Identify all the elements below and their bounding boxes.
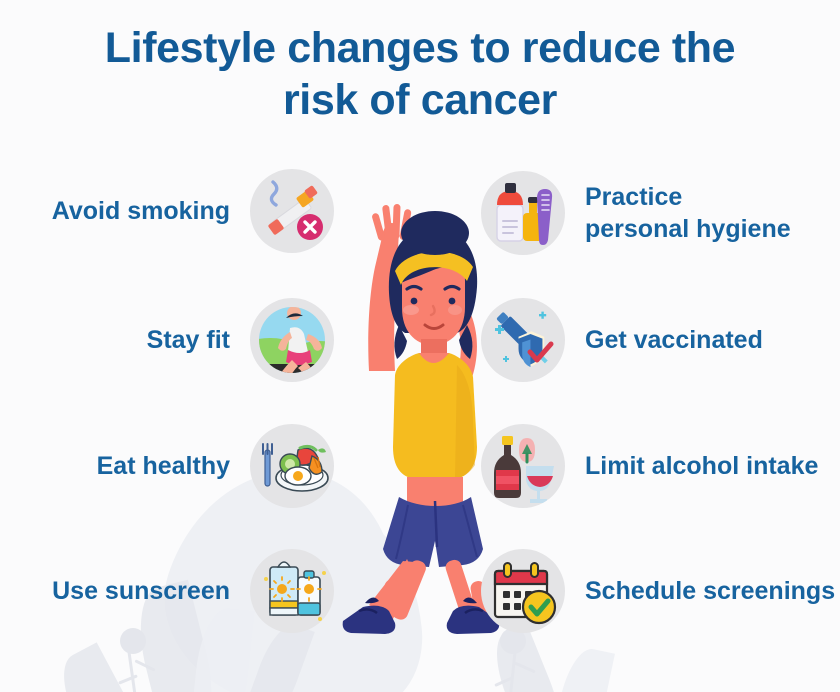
infographic-poster: Lifestyle changes to reduce the risk of …	[0, 0, 840, 692]
title-line-2: risk of cancer	[0, 74, 840, 126]
leaf-shape	[49, 642, 153, 692]
stem-shape	[494, 676, 513, 687]
item-label: Avoid smoking	[52, 195, 230, 227]
syringe-shield-icon	[481, 298, 565, 382]
healthy-plate-icon	[250, 424, 334, 508]
no-smoking-icon	[250, 169, 334, 253]
stem-shape	[134, 659, 155, 671]
item-label: Eat healthy	[97, 450, 230, 482]
stem-shape	[118, 674, 138, 684]
wine-bottle-glass-icon	[481, 424, 565, 508]
stem-shape	[127, 650, 137, 692]
stem-shape	[508, 650, 516, 692]
title-line-1: Lifestyle changes to reduce the	[105, 24, 735, 72]
hygiene-products-icon	[481, 171, 565, 255]
list-item-schedule-screenings[interactable]: Schedule screenings	[481, 549, 840, 633]
leaf-shape	[549, 645, 615, 692]
item-label: Get vaccinated	[585, 324, 763, 356]
list-item-use-sunscreen[interactable]: Use sunscreen	[0, 549, 334, 633]
list-item-stay-fit[interactable]: Stay fit	[0, 298, 334, 382]
list-item-avoid-smoking[interactable]: Avoid smoking	[0, 169, 334, 253]
stem-shape	[514, 662, 535, 674]
list-item-practice-personal-hygiene[interactable]: Practice personal hygiene	[481, 171, 840, 255]
item-label: Practice personal hygiene	[585, 181, 791, 245]
item-label: Schedule screenings	[585, 575, 835, 607]
item-label: Stay fit	[147, 324, 230, 356]
sunscreen-icon	[250, 549, 334, 633]
list-item-eat-healthy[interactable]: Eat healthy	[0, 424, 334, 508]
list-item-limit-alcohol-intake[interactable]: Limit alcohol intake	[481, 424, 840, 508]
item-label: Limit alcohol intake	[585, 450, 818, 482]
list-item-get-vaccinated[interactable]: Get vaccinated	[481, 298, 840, 382]
runner-icon	[250, 298, 334, 382]
item-label: Use sunscreen	[52, 575, 230, 607]
page-title: Lifestyle changes to reduce the risk of …	[0, 22, 840, 127]
calendar-check-icon	[481, 549, 565, 633]
